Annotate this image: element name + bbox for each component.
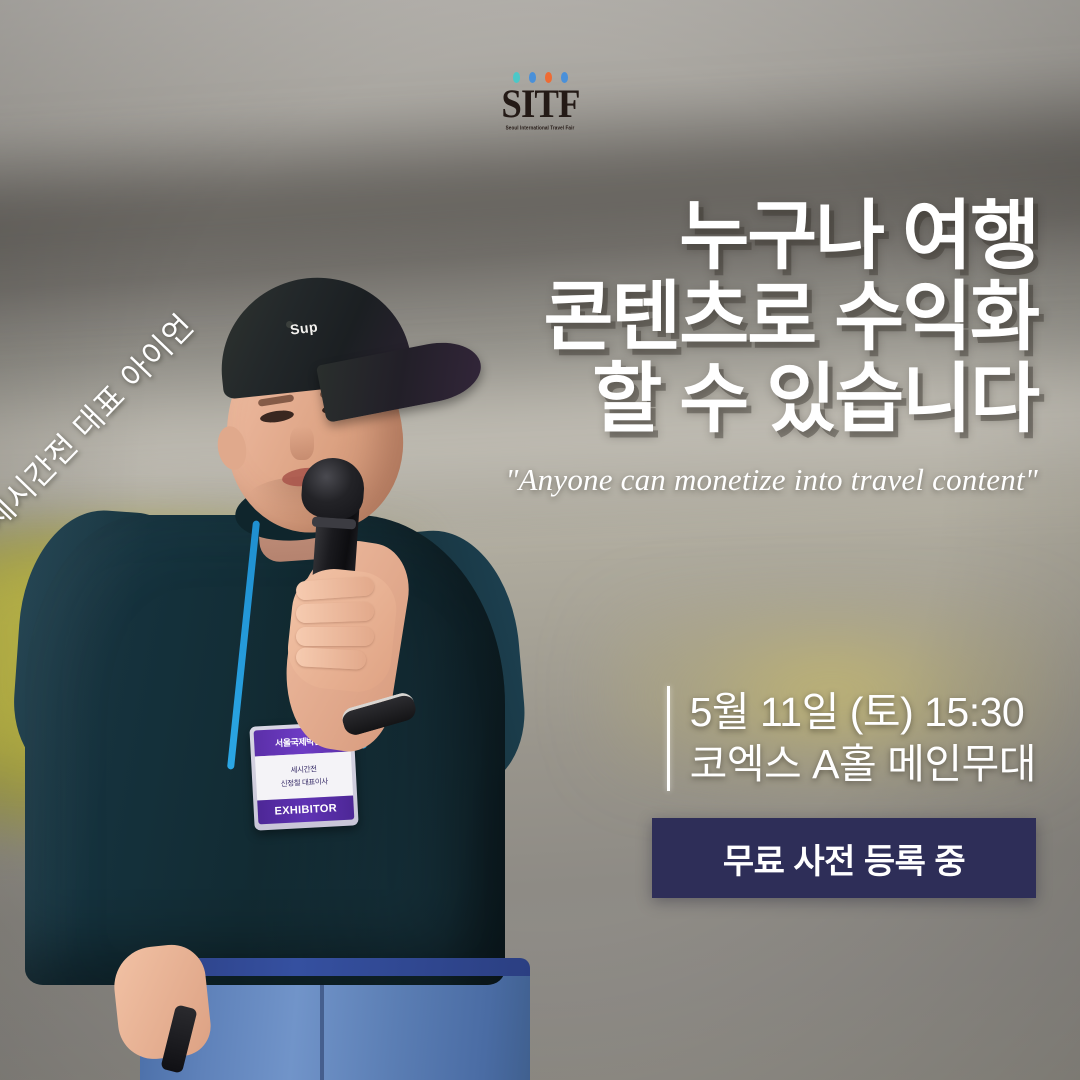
event-datetime: 5월 11일 (토) 15:30 xyxy=(690,686,1036,738)
badge-company: 세시간전 xyxy=(290,763,317,775)
speaker-hand-left xyxy=(110,941,213,1062)
headline-subtitle: "Anyone can monetize into travel content… xyxy=(418,462,1038,498)
event-info-lines: 5월 11일 (토) 15:30 코엑스 A홀 메인무대 xyxy=(690,686,1036,791)
headline-line-2: 콘텐츠로 수익화 xyxy=(418,277,1038,358)
headline-line-3: 할 수 있습니다 xyxy=(418,359,1038,440)
speaker-cap-text: Sup xyxy=(289,318,319,337)
speaker-finger xyxy=(296,647,367,670)
speaker-finger xyxy=(296,627,374,646)
speaker-finger xyxy=(296,602,375,624)
logo-wordmark: SITF xyxy=(501,86,579,123)
badge-body: 세시간전 신정철 대표이사 xyxy=(255,752,353,801)
event-info-block: 5월 11일 (토) 15:30 코엑스 A홀 메인무대 xyxy=(667,686,1036,791)
event-venue: 코엑스 A홀 메인무대 xyxy=(690,738,1036,790)
badge-role: EXHIBITOR xyxy=(274,802,337,817)
promo-poster: SITF Seoul International Travel Fair Sup… xyxy=(0,0,1080,1080)
register-cta-button[interactable]: 무료 사전 등록 중 xyxy=(652,818,1036,898)
headline-line-1: 누구나 여행 xyxy=(418,196,1038,277)
logo-subtitle: Seoul International Travel Fair xyxy=(506,124,575,130)
speaker-nose xyxy=(290,426,314,460)
badge-person: 신정철 대표이사 xyxy=(280,776,328,789)
event-info-accent-bar xyxy=(667,686,670,791)
badge-footer: EXHIBITOR xyxy=(257,795,354,824)
headline-block: 누구나 여행 콘텐츠로 수익화 할 수 있습니다 "Anyone can mon… xyxy=(418,196,1038,498)
sitf-logo: SITF Seoul International Travel Fair xyxy=(0,72,1080,130)
